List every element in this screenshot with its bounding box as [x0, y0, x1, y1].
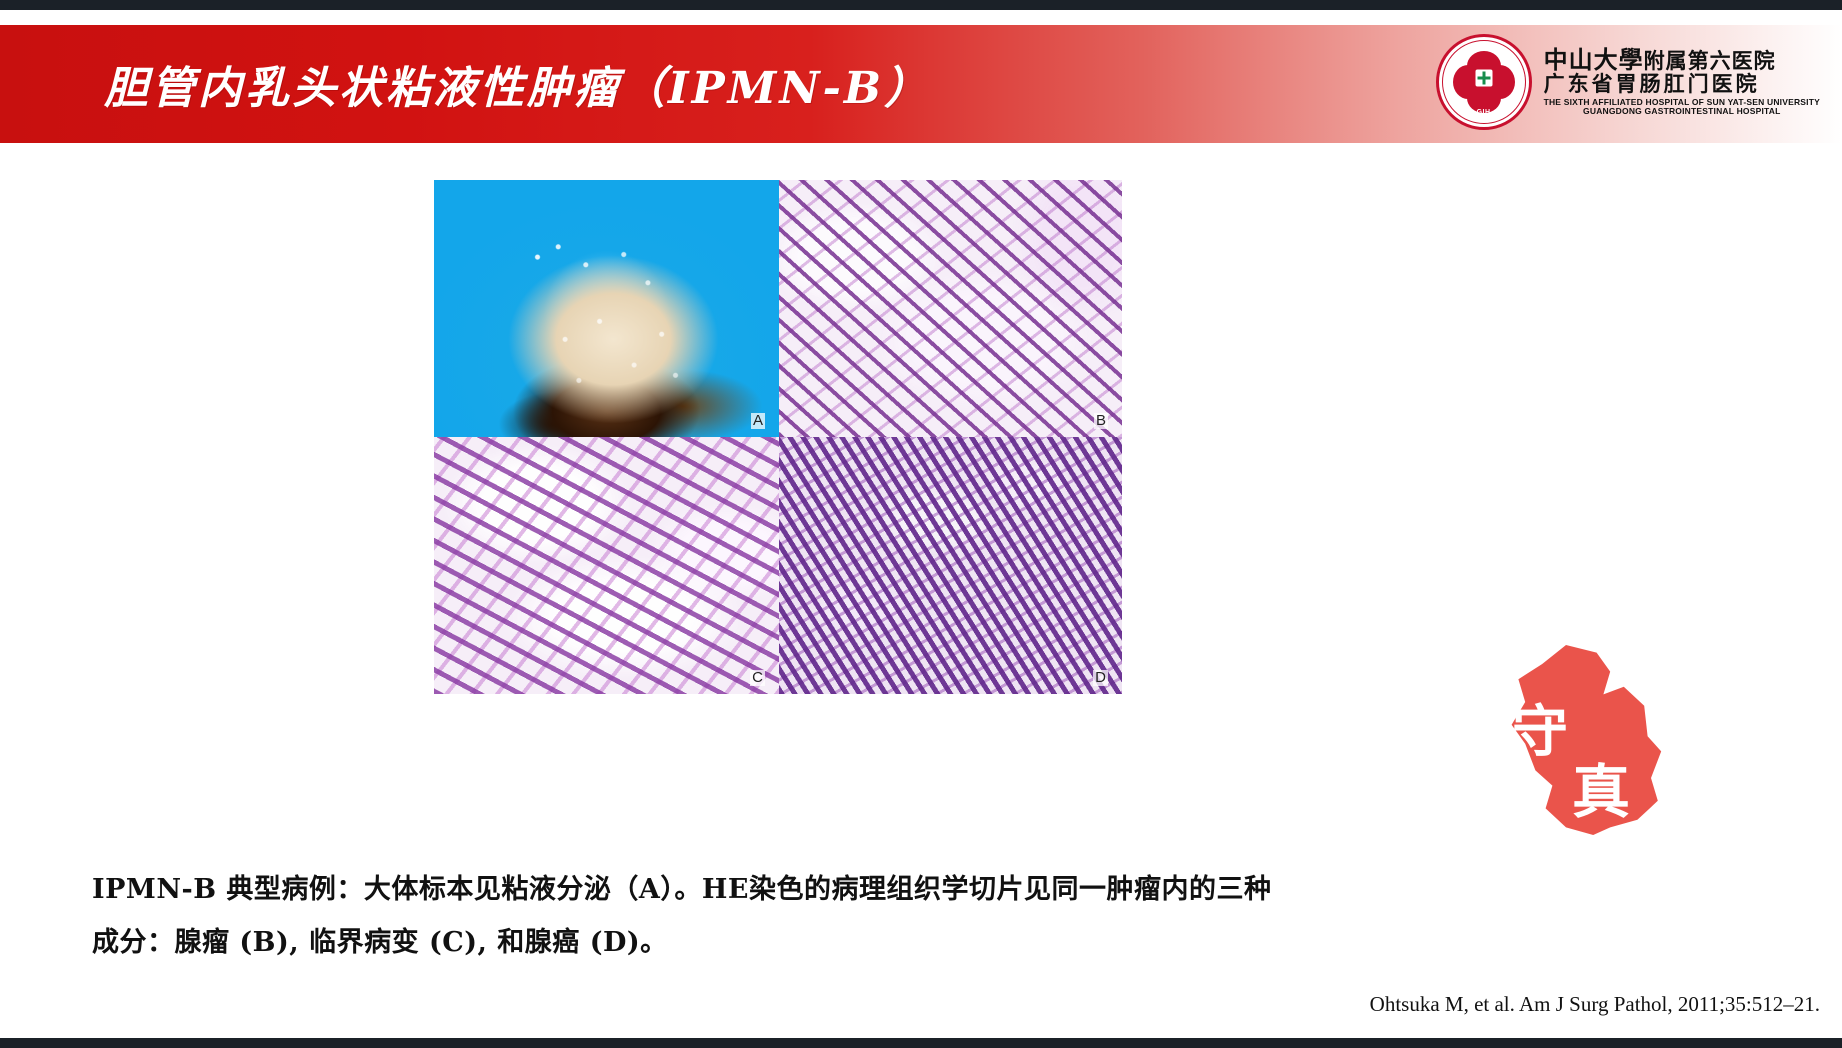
- caption-line-2: 成分：腺瘤 (B), 临界病变 (C), 和腺癌 (D)。: [92, 917, 1732, 970]
- hospital-name-cn-2: 广东省胃肠肛门医院: [1544, 73, 1820, 95]
- figure-panel-a: A: [434, 180, 779, 437]
- top-frame-bar: [0, 0, 1842, 10]
- panel-label-d: D: [1093, 670, 1108, 687]
- seal-char-1: 守: [1512, 687, 1568, 768]
- caption-line-1: IPMN-B 典型病例：大体标本见粘液分泌（A）。HE染色的病理组织学切片见同一…: [92, 864, 1732, 917]
- page-title: 胆管内乳头状粘液性肿瘤（IPMN-B）: [104, 52, 931, 116]
- histology-texture: [779, 437, 1122, 694]
- hospital-name-block: 中山大學附属第六医院 广东省胃肠肛门医院 THE SIXTH AFFILIATE…: [1544, 48, 1820, 116]
- figure-panel-c: C: [434, 437, 779, 694]
- hospital-name-cn-1: 中山大學附属第六医院: [1544, 48, 1820, 73]
- hospital-emblem-icon: GIH: [1436, 34, 1532, 130]
- affiliation-name-cn: 附属第六医院: [1644, 49, 1776, 73]
- bottom-frame-bar: [0, 1038, 1842, 1048]
- hospital-name-en-2: GUANGDONG GASTROINTESTINAL HOSPITAL: [1544, 107, 1820, 116]
- university-name-cn: 中山大學: [1544, 46, 1644, 74]
- figure-caption: IPMN-B 典型病例：大体标本见粘液分泌（A）。HE染色的病理组织学切片见同一…: [92, 864, 1732, 969]
- emblem-gih-label: GIH: [1477, 109, 1491, 116]
- figure-panel-b: B: [779, 180, 1122, 437]
- panel-label-b: B: [1094, 413, 1108, 430]
- panel-label-a: A: [751, 413, 765, 430]
- decorative-seal-stamp: 守 真: [1498, 645, 1668, 835]
- medical-cross-icon: [1475, 70, 1492, 87]
- seal-char-2: 真: [1572, 745, 1630, 829]
- figure-montage: A B C D: [434, 180, 1122, 694]
- figure-panel-d: D: [779, 437, 1122, 694]
- citation-reference: Ohtsuka M, et al. Am J Surg Pathol, 2011…: [1370, 992, 1820, 1017]
- panel-label-c: C: [750, 670, 765, 687]
- histology-texture: [779, 180, 1122, 437]
- histology-texture: [434, 437, 779, 694]
- hospital-logo: GIH 中山大學附属第六医院 广东省胃肠肛门医院 THE SIXTH AFFIL…: [1436, 26, 1820, 138]
- slide-root: 胆管内乳头状粘液性肿瘤（IPMN-B） GIH 中山大學附属第六医院 广东省胃肠…: [0, 0, 1842, 1048]
